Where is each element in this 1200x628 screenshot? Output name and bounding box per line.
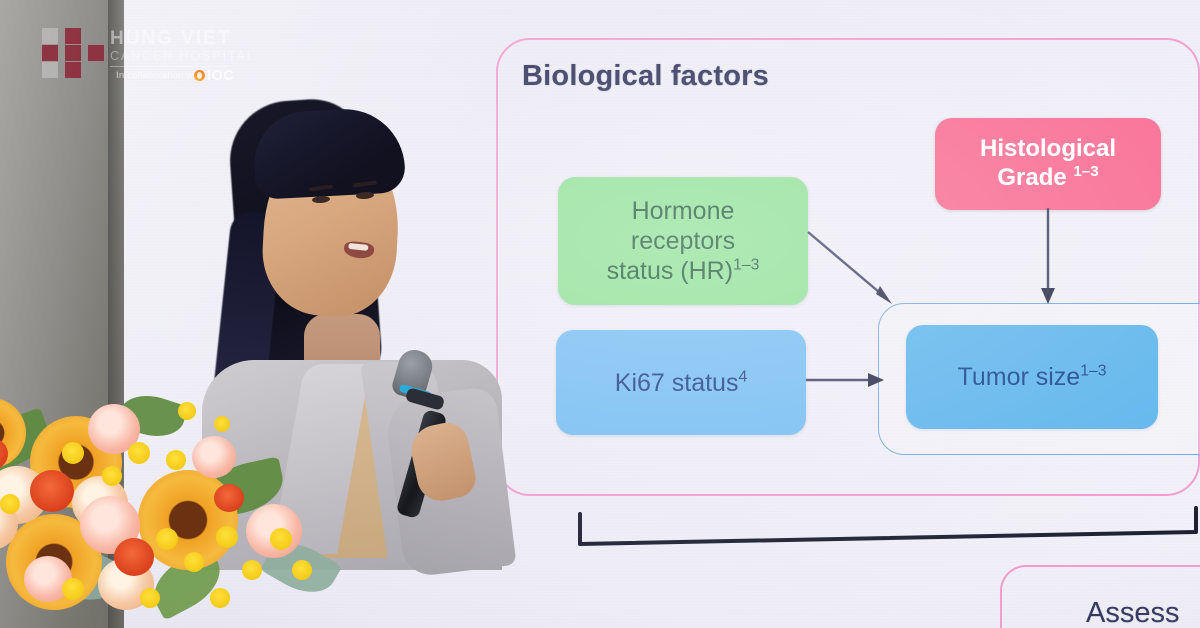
node-hist-superscript: 1–3 — [1073, 163, 1098, 180]
node-tumor-superscript: 1–3 — [1080, 363, 1106, 380]
logo-hospital-subtitle: CANCER HOSPITAL — [110, 49, 256, 63]
flower-arrangement — [0, 378, 390, 628]
node-hist-line1: Histological — [980, 135, 1116, 162]
node-hormone-line3: status (HR) — [607, 257, 733, 285]
node-ki67-status: Ki67 status4 — [556, 330, 806, 435]
summary-bracket — [576, 512, 1200, 550]
node-tumor-line1: Tumor size — [958, 363, 1081, 391]
screenshot-stage: Biological factors Hormone receptors sta… — [0, 0, 1200, 628]
logo-collaboration-text: In collaboration with — [116, 70, 204, 81]
logo-hospital-name: HUNG VIET — [110, 28, 231, 50]
node-hormone-receptors: Hormone receptors status (HR)1–3 — [558, 177, 808, 305]
node-ki67-line1: Ki67 status — [615, 369, 739, 397]
node-ki67-superscript: 4 — [738, 368, 747, 385]
logo-divider — [110, 66, 228, 67]
node-tumor-size: Tumor size1–3 — [906, 325, 1158, 429]
assess-label: Assess — [1086, 597, 1179, 628]
logo-partner-name: IOC — [207, 68, 234, 84]
node-hormone-superscript: 1–3 — [733, 257, 759, 274]
node-histological-grade: Histological Grade 1–3 — [935, 118, 1161, 210]
node-hist-line2: Grade — [997, 164, 1066, 191]
node-hormone-line1: Hormone — [632, 197, 735, 225]
hospital-logo: HUNG VIET CANCER HOSPITAL In collaborati… — [34, 24, 230, 86]
node-hormone-line2: receptors — [631, 227, 735, 255]
biological-factors-title: Biological factors — [522, 60, 769, 93]
ioc-mark-icon — [194, 70, 205, 81]
logo-cross-icon — [42, 28, 104, 80]
